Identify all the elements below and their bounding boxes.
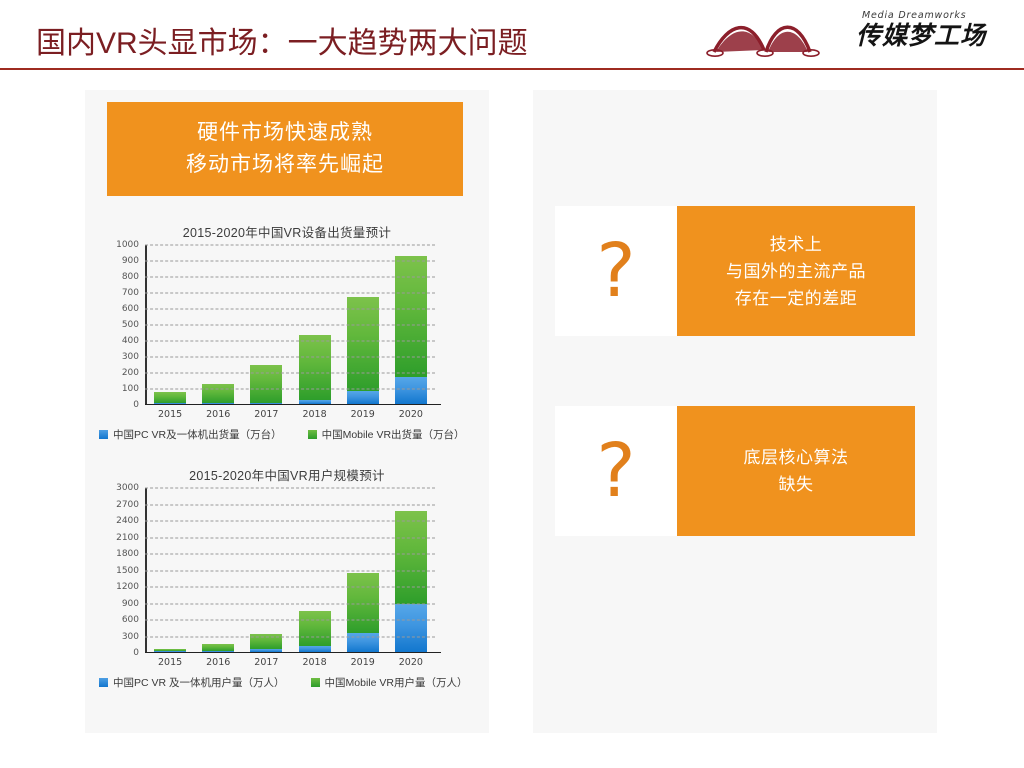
x-axis-tick-label: 2016	[202, 657, 234, 668]
x-axis-tick-label: 2015	[154, 409, 186, 420]
y-axis-tick-label: 800	[122, 272, 139, 282]
shipment-chart-legend: 中国PC VR及一体机出货量（万台） 中国Mobile VR出货量（万台）	[85, 427, 489, 442]
gridline	[145, 521, 435, 522]
logo-english-name: Media Dreamworks	[862, 10, 1006, 21]
gridline	[145, 309, 435, 310]
legend-label-pc-vr-shipment: 中国PC VR及一体机出货量（万台）	[113, 427, 282, 442]
gridline	[145, 603, 435, 604]
users-chart-block: 2015-2020年中国VR用户规模预计 2015201620172018201…	[85, 465, 489, 690]
problem-text-cell-2: 底层核心算法 缺失	[677, 406, 915, 536]
y-axis-tick-label: 1800	[116, 549, 139, 559]
y-axis-tick-label: 400	[122, 336, 139, 346]
problem-2-line-2: 缺失	[779, 471, 814, 498]
logo-wordmark: Media Dreamworks 传媒梦工场	[856, 10, 1006, 51]
logo-chinese-name: 传媒梦工场	[856, 21, 1006, 51]
y-axis-tick-label: 1500	[116, 566, 139, 576]
y-axis-tick-label: 2400	[116, 516, 139, 526]
x-axis-tick-label: 2019	[347, 409, 379, 420]
bar-segment-pc-vr	[395, 377, 427, 403]
legend-item-mobile-vr-users: 中国Mobile VR用户量（万人）	[311, 675, 468, 690]
gridline	[145, 504, 435, 505]
y-axis-tick-label: 300	[122, 352, 139, 362]
page-title: 国内VR头显市场：一大趋势两大问题	[36, 18, 528, 62]
gridline	[145, 570, 435, 571]
y-axis-tick-label: 0	[133, 648, 139, 658]
y-axis-tick-label: 2100	[116, 533, 139, 543]
y-axis-tick-label: 900	[122, 256, 139, 266]
bar-segment-mobile-vr	[395, 511, 427, 604]
y-axis-tick-label: 600	[122, 304, 139, 314]
problem-text-cell-1: 技术上 与国外的主流产品 存在一定的差距	[677, 206, 915, 336]
shipment-chart-x-axis	[145, 404, 441, 406]
shipment-chart-x-labels: 201520162017201820192020	[146, 409, 435, 420]
users-chart-legend: 中国PC VR 及一体机用户量（万人） 中国Mobile VR用户量（万人）	[85, 675, 489, 690]
bar-segment-pc-vr	[299, 646, 331, 652]
x-axis-tick-label: 2020	[395, 657, 427, 668]
gridline	[145, 341, 435, 342]
x-axis-tick-label: 2015	[154, 657, 186, 668]
y-axis-tick-label: 100	[122, 384, 139, 394]
y-axis-tick-label: 2700	[116, 500, 139, 510]
x-axis-tick-label: 2017	[250, 657, 282, 668]
page-header: 国内VR头显市场：一大趋势两大问题 Media Dreamworks 传媒梦工场	[0, 0, 1024, 69]
bar-segment-pc-vr	[250, 649, 282, 651]
problem-card-algorithm: ? 底层核心算法 缺失	[555, 406, 915, 536]
y-axis-tick-label: 700	[122, 288, 139, 298]
gridline	[145, 277, 435, 278]
problem-icon-cell-1: ?	[555, 206, 677, 336]
y-axis-tick-label: 1000	[116, 240, 139, 250]
gridline	[145, 488, 435, 489]
gridline	[145, 537, 435, 538]
bar-segment-pc-vr	[347, 391, 379, 403]
legend-item-pc-vr-users: 中国PC VR 及一体机用户量（万人）	[99, 675, 285, 690]
problem-1-line-2: 与国外的主流产品	[726, 258, 866, 285]
gridline	[145, 373, 435, 374]
gridline	[145, 554, 435, 555]
shipment-chart-plot: 201520162017201820192020 010020030040050…	[145, 245, 435, 405]
legend-label-pc-vr-users: 中国PC VR 及一体机用户量（万人）	[113, 675, 285, 690]
gridline	[145, 357, 435, 358]
gridline	[145, 389, 435, 390]
gridline	[145, 261, 435, 262]
users-chart-x-axis	[145, 652, 441, 654]
legend-label-mobile-vr-users: 中国Mobile VR用户量（万人）	[325, 675, 468, 690]
trend-banner-line-1: 硬件市场快速成熟	[197, 117, 373, 149]
bar-segment-mobile-vr	[202, 384, 234, 403]
bar-segment-mobile-vr	[250, 365, 282, 403]
bar-segment-mobile-vr	[299, 611, 331, 646]
y-axis-tick-label: 500	[122, 320, 139, 330]
users-chart-plot: 201520162017201820192020 030060090012001…	[145, 488, 435, 653]
legend-label-mobile-vr-shipment: 中国Mobile VR出货量（万台）	[322, 427, 465, 442]
bar-segment-pc-vr	[299, 400, 331, 404]
brand-logo: Media Dreamworks 传媒梦工场	[706, 10, 1006, 62]
question-mark-icon: ?	[596, 434, 635, 508]
legend-item-pc-vr-shipment: 中国PC VR及一体机出货量（万台）	[99, 427, 282, 442]
y-axis-tick-label: 0	[133, 400, 139, 410]
problem-icon-cell-2: ?	[555, 406, 677, 536]
y-axis-tick-label: 300	[122, 632, 139, 642]
problem-2-line-1: 底层核心算法	[744, 444, 849, 471]
gridline	[145, 587, 435, 588]
bar-segment-mobile-vr	[154, 392, 186, 403]
bar-segment-pc-vr	[250, 403, 282, 404]
problem-1-line-3: 存在一定的差距	[735, 285, 858, 312]
x-axis-tick-label: 2020	[395, 409, 427, 420]
y-axis-tick-label: 600	[122, 615, 139, 625]
shipment-chart-title: 2015-2020年中国VR设备出货量预计	[85, 222, 489, 241]
x-axis-tick-label: 2017	[250, 409, 282, 420]
problem-1-line-1: 技术上	[770, 231, 823, 258]
y-axis-tick-label: 900	[122, 599, 139, 609]
y-axis-tick-label: 1200	[116, 582, 139, 592]
gridline	[145, 636, 435, 637]
gridline	[145, 293, 435, 294]
problem-card-technology: ? 技术上 与国外的主流产品 存在一定的差距	[555, 206, 915, 336]
gridline	[145, 245, 435, 246]
x-axis-tick-label: 2018	[299, 409, 331, 420]
gridline	[145, 325, 435, 326]
legend-swatch-green-icon	[308, 430, 317, 439]
users-chart-x-labels: 201520162017201820192020	[146, 657, 435, 668]
bar-segment-mobile-vr	[347, 297, 379, 391]
bar-segment-mobile-vr	[299, 335, 331, 400]
left-panel: 硬件市场快速成熟 移动市场将率先崛起 2015-2020年中国VR设备出货量预计…	[85, 90, 489, 733]
x-axis-tick-label: 2018	[299, 657, 331, 668]
header-divider	[0, 68, 1024, 70]
legend-item-mobile-vr-shipment: 中国Mobile VR出货量（万台）	[308, 427, 465, 442]
bar-segment-pc-vr	[202, 403, 234, 404]
y-axis-tick-label: 3000	[116, 483, 139, 493]
legend-swatch-blue-icon	[99, 430, 108, 439]
legend-swatch-blue-icon	[99, 678, 108, 687]
users-chart-title: 2015-2020年中国VR用户规模预计	[85, 465, 489, 484]
shipment-chart-block: 2015-2020年中国VR设备出货量预计 201520162017201820…	[85, 222, 489, 442]
logo-arch-icon	[706, 12, 846, 60]
right-panel: ? 技术上 与国外的主流产品 存在一定的差距 ? 底层核心算法 缺失	[533, 90, 937, 733]
gridline	[145, 620, 435, 621]
legend-swatch-green-icon	[311, 678, 320, 687]
trend-banner: 硬件市场快速成熟 移动市场将率先崛起	[107, 102, 463, 196]
x-axis-tick-label: 2019	[347, 657, 379, 668]
bar-segment-mobile-vr	[395, 256, 427, 378]
trend-banner-line-2: 移动市场将率先崛起	[186, 149, 384, 181]
bar-segment-pc-vr	[395, 604, 427, 651]
x-axis-tick-label: 2016	[202, 409, 234, 420]
bar-segment-pc-vr	[202, 651, 234, 652]
y-axis-tick-label: 200	[122, 368, 139, 378]
question-mark-icon: ?	[596, 234, 635, 308]
